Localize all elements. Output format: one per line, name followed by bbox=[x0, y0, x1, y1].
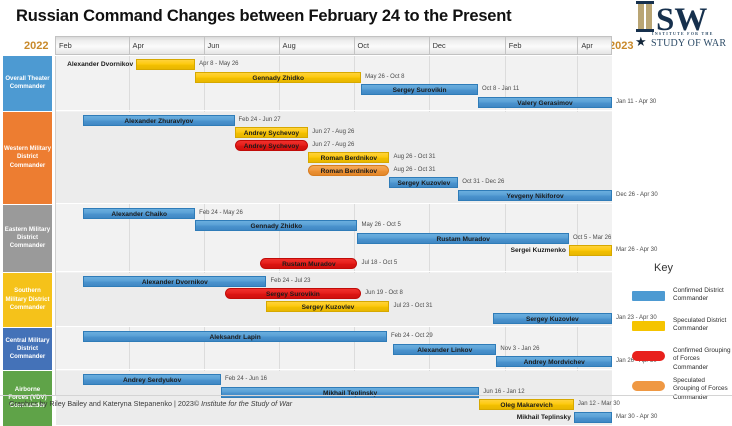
bar-date-range: May 26 - Oct 8 bbox=[365, 72, 404, 83]
bar-date-range: Aug 26 - Oct 31 bbox=[393, 152, 435, 163]
axis-tick-label: Dec bbox=[433, 41, 446, 50]
legend-swatch-yellow bbox=[632, 321, 665, 331]
legend-swatch-red bbox=[632, 351, 665, 361]
legend-item-label: Confirmed District Commander bbox=[673, 287, 731, 304]
gantt-bar[interactable]: Alexander Chaiko bbox=[83, 208, 195, 219]
axis-tick-label: Apr bbox=[133, 41, 145, 50]
gantt-bar[interactable]: Yevgeny Nikiforov bbox=[458, 190, 612, 201]
year-start-label: 2022 bbox=[24, 40, 48, 52]
axis-tick-label: Feb bbox=[509, 41, 522, 50]
legend-item: Confirmed Grouping of Forces Commander bbox=[618, 346, 730, 372]
gantt-bar[interactable]: Sergey Surovikin bbox=[361, 84, 478, 95]
bar-label: Sergey Kuzovlev bbox=[267, 302, 388, 313]
gantt-bar[interactable]: Sergey Kuzovlev bbox=[389, 177, 458, 188]
bar-label: Sergey Surovikin bbox=[362, 85, 477, 96]
bar-date-range: Nov 3 - Jan 26 bbox=[500, 344, 539, 355]
footer-divider bbox=[0, 395, 732, 396]
bar-label: Alexander Chaiko bbox=[84, 209, 194, 220]
gantt-bar[interactable]: Andrey Serdyukov bbox=[83, 374, 221, 385]
footer-credit-text: Graphics by Riley Bailey and Kateryna St… bbox=[9, 399, 201, 408]
gantt-bar[interactable]: Andrey Mordvichev bbox=[496, 356, 612, 367]
bar-label: Aleksandr Lapin bbox=[84, 332, 386, 343]
legend-item: Speculated District Commander bbox=[618, 316, 730, 342]
bar-label: Andrey Sychevoy bbox=[236, 128, 308, 139]
axis-tick-label: Aug bbox=[283, 41, 296, 50]
legend-swatch-blue bbox=[632, 291, 665, 301]
axis-tick-label: Jun bbox=[208, 41, 220, 50]
legend-item-label: Speculated District Commander bbox=[673, 317, 731, 334]
gantt-bar[interactable]: Gennady Zhidko bbox=[195, 72, 361, 83]
gantt-bar[interactable]: Aleksandr Lapin bbox=[83, 331, 387, 342]
legend-title: Key bbox=[654, 262, 673, 274]
bar-label: Rustam Muradov bbox=[261, 259, 356, 270]
bar-label: Alexander Dvornikov bbox=[16, 59, 133, 70]
gantt-bar[interactable]: Andrey Sychevoy bbox=[235, 127, 309, 138]
bar-date-range: Jun 27 - Aug 26 bbox=[312, 140, 354, 151]
legend-item-label: Confirmed Grouping of Forces Commander bbox=[673, 347, 731, 372]
legend-item: Confirmed District Commander bbox=[618, 286, 730, 312]
legend-swatch-orange bbox=[632, 381, 665, 391]
bar-date-range: Jul 18 - Oct 5 bbox=[361, 258, 397, 269]
gantt-bar[interactable]: Roman Berdnikov bbox=[308, 152, 389, 163]
gantt-bar[interactable]: Andrey Sychevoy bbox=[235, 140, 309, 151]
bar-date-range: Oct 5 - Mar 26 bbox=[573, 233, 611, 244]
bar-label: Oleg Makarevich bbox=[480, 400, 573, 411]
gantt-bar[interactable] bbox=[574, 412, 612, 423]
bar-label: Sergei Kuzmenko bbox=[449, 245, 566, 256]
axis-tick-label: Oct bbox=[358, 41, 370, 50]
legend: Key Confirmed District CommanderSpeculat… bbox=[618, 262, 730, 402]
gantt-bar[interactable]: Gennady Zhidko bbox=[195, 220, 357, 231]
bar-date-range: Feb 24 - Jul 23 bbox=[270, 276, 310, 287]
bar-date-range: Feb 24 - Jun 16 bbox=[225, 374, 267, 385]
bar-label: Mikhail Teplinsky bbox=[454, 412, 571, 423]
gantt-bar[interactable]: Valery Gerasimov bbox=[478, 97, 612, 108]
gantt-bar[interactable]: Sergey Surovikin bbox=[225, 288, 361, 299]
bar-date-range: Oct 31 - Dec 26 bbox=[462, 177, 504, 188]
axis-tick-2023-04-01: Apr bbox=[577, 37, 613, 54]
bar-label: Andrey Sychevoy bbox=[236, 141, 308, 152]
svg-text:SW: SW bbox=[656, 2, 707, 35]
category-label-eastern-military-district-commander: Eastern Military District Commander bbox=[3, 205, 52, 272]
bar-label: Roman Berdnikov bbox=[309, 166, 388, 177]
bar-date-range: Feb 24 - Oct 29 bbox=[391, 331, 433, 342]
bar-date-range: Feb 24 - Jun 27 bbox=[239, 115, 281, 126]
logo-name: STUDY OF WAR bbox=[651, 38, 731, 49]
axis-tick-label: Apr bbox=[581, 41, 593, 50]
category-label-western-military-district-commander: Western Military District Commander bbox=[3, 112, 52, 204]
bar-date-range: Mar 30 - Apr 30 bbox=[616, 412, 657, 423]
category-label-southern-military-district-commander: Southern Military District Commander bbox=[3, 273, 52, 328]
bar-label: Andrey Mordvichev bbox=[497, 357, 611, 368]
isw-logo: SW ★ INSTITUTE FOR THE STUDY OF WAR bbox=[632, 2, 730, 52]
logo-tagline: INSTITUTE FOR THE bbox=[652, 32, 730, 36]
gantt-bar[interactable]: Sergey Kuzovlev bbox=[266, 301, 389, 312]
bar-label: Alexander Zhuravlyov bbox=[84, 116, 233, 127]
bar-label: Andrey Serdyukov bbox=[84, 375, 220, 386]
gantt-infographic: Russian Command Changes between February… bbox=[0, 0, 732, 412]
bar-label: Roman Berdnikov bbox=[309, 153, 388, 164]
bar-date-range: Jan 11 - Apr 30 bbox=[616, 97, 656, 108]
bar-label: Mikhail Teplinsky bbox=[222, 388, 478, 399]
bar-date-range: Jun 19 - Oct 8 bbox=[365, 288, 403, 299]
legend-item: Speculated Grouping of Forces Commander bbox=[618, 376, 730, 402]
gantt-bar[interactable]: Rustam Muradov bbox=[357, 233, 568, 244]
footer-org: Institute for the Study of War bbox=[201, 399, 292, 408]
page-title: Russian Command Changes between February… bbox=[16, 7, 626, 26]
category-label-central-military-district-commander: Central Military District Commander bbox=[3, 328, 52, 370]
bar-label: Gennady Zhidko bbox=[196, 73, 360, 84]
gantt-bar[interactable]: Rustam Muradov bbox=[260, 258, 357, 269]
gantt-bar[interactable]: Alexander Linkov bbox=[393, 344, 496, 355]
bar-date-range: Jul 23 - Oct 31 bbox=[393, 301, 432, 312]
bar-label: Sergey Surovikin bbox=[226, 289, 360, 300]
gantt-bar[interactable]: Roman Berdnikov bbox=[308, 165, 389, 176]
bar-date-range: Dec 26 - Apr 30 bbox=[616, 190, 658, 201]
gantt-bar[interactable]: Alexander Zhuravlyov bbox=[83, 115, 234, 126]
bar-label: Alexander Linkov bbox=[394, 345, 495, 356]
bar-date-range: Feb 24 - May 26 bbox=[199, 208, 243, 219]
bar-date-range: Jan 12 - Mar 30 bbox=[578, 399, 620, 410]
bar-label: Alexander Dvornikov bbox=[84, 277, 265, 288]
bar-date-range: May 26 - Oct 5 bbox=[361, 220, 400, 231]
bar-date-range: Jun 27 - Aug 26 bbox=[312, 127, 354, 138]
bar-label: Yevgeny Nikiforov bbox=[459, 191, 611, 202]
gantt-bar[interactable]: Sergey Kuzovlev bbox=[493, 313, 612, 324]
gantt-bar[interactable]: Oleg Makarevich bbox=[479, 399, 574, 410]
gantt-bar[interactable]: Alexander Dvornikov bbox=[83, 276, 266, 287]
isw-wordmark-icon: SW bbox=[636, 1, 730, 35]
axis-tick-label: Feb bbox=[59, 41, 72, 50]
gantt-bar[interactable] bbox=[136, 59, 195, 70]
timeline-axis: FebAprJunAugOctDecFebApr bbox=[55, 36, 612, 55]
star-icon: ★ bbox=[635, 35, 647, 48]
bar-date-range: Oct 8 - Jan 11 bbox=[482, 84, 519, 95]
bar-label: Gennady Zhidko bbox=[196, 221, 356, 232]
bar-date-range: Mar 26 - Apr 30 bbox=[616, 245, 657, 256]
footer-credit: Graphics by Riley Bailey and Kateryna St… bbox=[9, 399, 292, 408]
bar-date-range: Apr 8 - May 26 bbox=[199, 59, 238, 70]
legend-item-label: Speculated Grouping of Forces Commander bbox=[673, 377, 731, 402]
bar-label: Sergey Kuzovlev bbox=[494, 314, 611, 325]
gantt-bar[interactable] bbox=[569, 245, 612, 256]
bar-label: Rustam Muradov bbox=[358, 234, 567, 245]
bar-label: Sergey Kuzovlev bbox=[390, 178, 457, 189]
bar-label: Valery Gerasimov bbox=[479, 98, 611, 109]
bar-date-range: Aug 26 - Oct 31 bbox=[393, 165, 435, 176]
